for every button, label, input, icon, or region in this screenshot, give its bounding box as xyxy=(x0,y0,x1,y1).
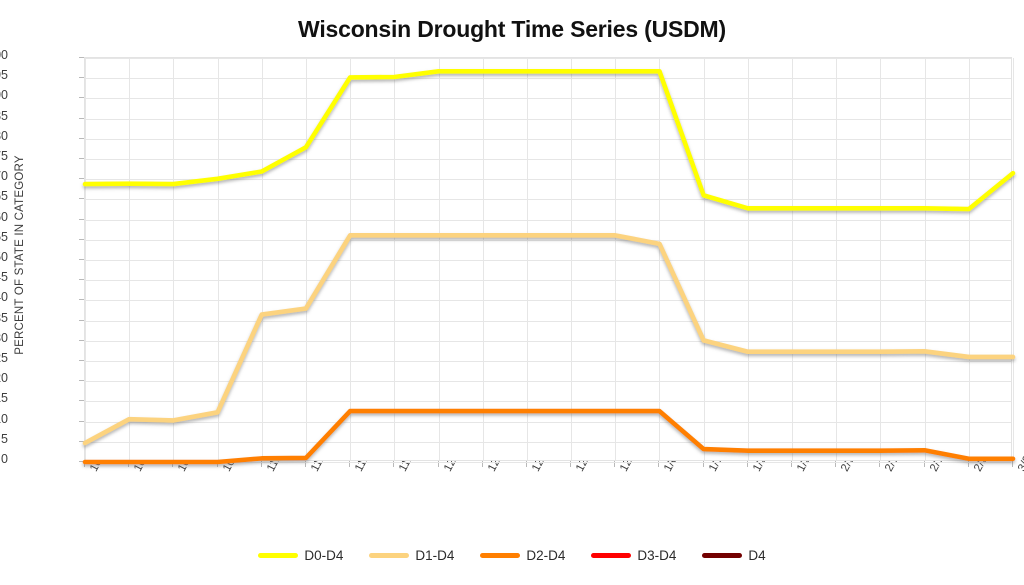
legend-item-d3-d4[interactable]: D3-D4 xyxy=(591,549,676,563)
legend-label: D3-D4 xyxy=(637,549,676,563)
legend-label: D1-D4 xyxy=(415,549,454,563)
legend-swatch xyxy=(258,553,298,558)
legend-swatch xyxy=(702,553,742,558)
gridline-vertical xyxy=(1013,58,1014,460)
series-layer xyxy=(85,58,1013,462)
series-line-d0-d4 xyxy=(85,71,1013,209)
page-title: Wisconsin Drought Time Series (USDM) xyxy=(0,16,1024,43)
legend-swatch xyxy=(591,553,631,558)
legend-item-d2-d4[interactable]: D2-D4 xyxy=(480,549,565,563)
legend-swatch xyxy=(369,553,409,558)
legend-item-d4[interactable]: D4 xyxy=(702,549,765,563)
legend-item-d1-d4[interactable]: D1-D4 xyxy=(369,549,454,563)
chart-legend: D0-D4D1-D4D2-D4D3-D4D4 xyxy=(0,549,1024,563)
legend-swatch xyxy=(480,553,520,558)
series-line-d2-d4 xyxy=(85,411,1013,462)
plot-area xyxy=(84,57,1012,461)
x-tick-label: 3/3/26 xyxy=(1016,440,1024,474)
y-axis-title: PERCENT OF STATE IN CATEGORY xyxy=(14,55,32,455)
drought-time-series-chart: Wisconsin Drought Time Series (USDM) PER… xyxy=(0,0,1024,585)
legend-label: D4 xyxy=(748,549,765,563)
legend-item-d0-d4[interactable]: D0-D4 xyxy=(258,549,343,563)
legend-label: D2-D4 xyxy=(526,549,565,563)
legend-label: D0-D4 xyxy=(304,549,343,563)
